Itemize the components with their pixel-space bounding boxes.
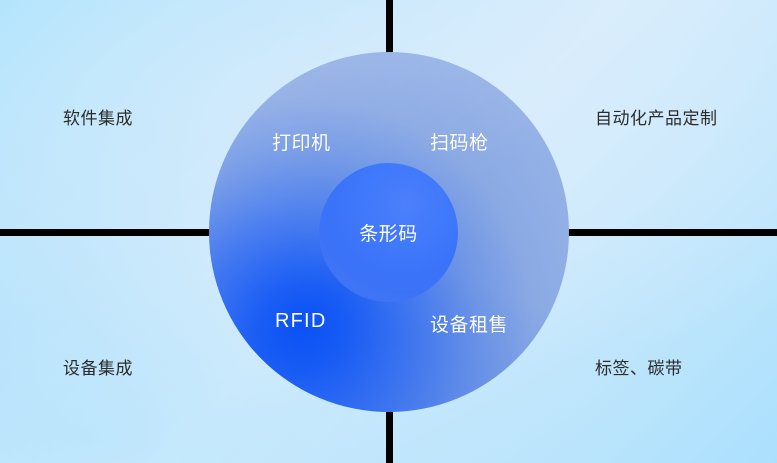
outer-label-labels-ribbons: 标签、碳带 — [595, 354, 683, 379]
outer-label-software-integration: 软件集成 — [63, 104, 133, 129]
center-circle-label: 条形码 — [359, 219, 418, 246]
inner-label-scanner: 扫码枪 — [430, 128, 489, 155]
outer-label-device-integration: 设备集成 — [63, 354, 133, 379]
center-circle: 条形码 — [319, 163, 458, 302]
diagram-canvas: 条形码 打印机 扫码枪 RFID 设备租售 软件集成 自动化产品定制 设备集成 … — [0, 0, 777, 463]
inner-label-rfid: RFID — [275, 310, 326, 333]
inner-label-device-rental: 设备租售 — [430, 310, 508, 337]
outer-label-automation-customization: 自动化产品定制 — [595, 104, 718, 129]
inner-label-printer: 打印机 — [272, 128, 331, 155]
